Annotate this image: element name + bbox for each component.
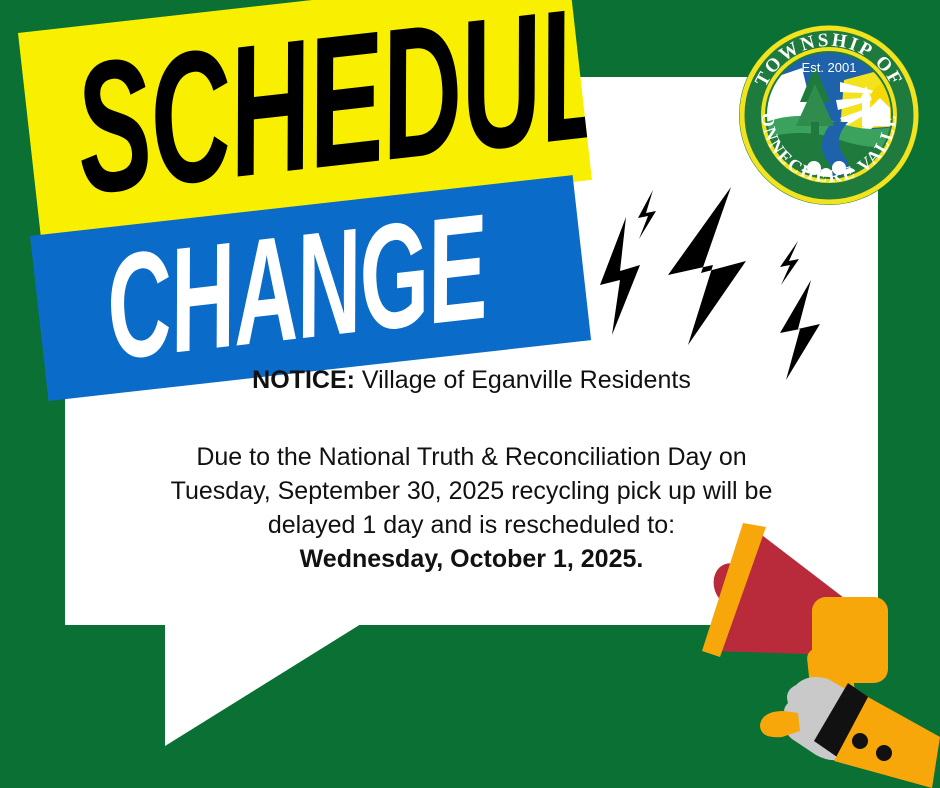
lightning-bolt-icon (780, 280, 820, 380)
body-line-1: Due to the National Truth & Reconciliati… (108, 440, 835, 474)
cuff-button (852, 733, 868, 749)
headline-change: CHANGE (100, 208, 492, 372)
township-logo: TOWNSHIP OF · BONNECHERE VALLEY · Est. 2… (736, 22, 922, 208)
notice-label: NOTICE: (252, 366, 355, 394)
lightning-bolt-icon (668, 187, 746, 345)
speech-bubble-tail (165, 624, 361, 746)
notice-headline: NOTICE: Village of Eganville Residents (65, 366, 878, 395)
headline-schedule: SCHEDULE (68, 0, 592, 207)
lightning-bolt-icon (780, 241, 799, 285)
megaphone-illustration (688, 515, 940, 788)
lightning-bolt-icon (600, 217, 640, 335)
body-line-2: Tuesday, September 30, 2025 recycling pi… (108, 474, 835, 508)
notice-audience: Village of Eganville Residents (362, 366, 691, 394)
cuff-button (876, 745, 892, 761)
lightning-bolt-icon (638, 190, 656, 239)
logo-established-text: Est. 2001 (802, 60, 857, 75)
poster-canvas: SCHEDULE CHANGE (0, 0, 940, 788)
